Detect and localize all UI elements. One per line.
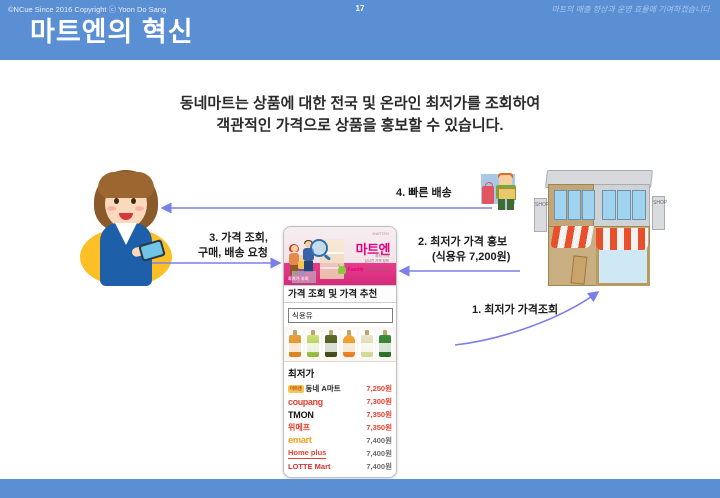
price-row[interactable]: emart 7,400원: [288, 434, 392, 447]
price-value: 7,300원: [366, 396, 392, 407]
store-name-tmon: TMON: [288, 410, 314, 420]
shop-sign-left: SHOP: [534, 198, 547, 232]
price-list: 마트엔 동네 A마트 7,250원 coupang 7,300원 TMON 7,…: [284, 382, 396, 477]
product-thumbnail[interactable]: [377, 330, 393, 357]
shop-window: [582, 190, 595, 220]
slide-canvas: 마트엔의 혁신 동네마트는 상품에 대한 전국 및 온라인 최저가를 조회하여 …: [0, 0, 720, 498]
customer-fringe: [98, 172, 154, 198]
shop-sign-left-text: SHOP: [535, 202, 546, 208]
shop-window: [602, 190, 616, 220]
store-name-coupang: coupang: [288, 397, 323, 407]
store-name-emart: emart: [288, 435, 311, 446]
customer-eye-left: [114, 198, 119, 204]
price-row[interactable]: coupang 7,300원: [288, 395, 392, 408]
step-1-line-1: 1. 최저가 가격조회: [472, 304, 558, 316]
step-3-line-1: 3. 가격 조회,: [209, 232, 268, 244]
banner-bottom-text: 최저가 조회: [288, 276, 309, 282]
price-row[interactable]: 마트엔 동네 A마트 7,250원: [288, 382, 392, 395]
subtitle-line-2: 객관적인 가격으로 상품을 홍보할 수 있습니다.: [0, 115, 720, 137]
shopping-bag-icon: [482, 186, 494, 204]
shop-building-illustration: SHOP SHOP: [528, 168, 673, 296]
banner-play-brand: Family: [348, 267, 364, 273]
banner-family-illustration: [286, 235, 344, 281]
price-value: 7,400원: [366, 435, 392, 446]
magnifier-icon: [310, 239, 328, 257]
shop-storefront-window: [596, 244, 650, 286]
lowest-price-heading: 최저가: [284, 362, 396, 382]
store-name-lottemart: LOTTE Mart: [288, 462, 331, 471]
shop-window: [632, 190, 646, 220]
shop-sign-right: SHOP: [652, 196, 665, 230]
product-thumbnail[interactable]: [341, 330, 357, 357]
product-thumbnail[interactable]: [305, 330, 321, 357]
app-section-title: 가격 조회 및 가격 추천: [284, 285, 396, 303]
product-thumbnail[interactable]: [287, 330, 303, 357]
subtitle-line-1: 동네마트는 상품에 대한 전국 및 온라인 최저가를 조회하여: [0, 93, 720, 115]
customer-blush-right: [135, 206, 144, 211]
step-4-line-1: 4. 빠른 배송: [396, 187, 452, 199]
step-2-label: 2. 최저가 가격 홍보 (식용유 7,200원): [418, 235, 510, 265]
step-2-line-1: 2. 최저가 가격 홍보: [418, 236, 507, 248]
shop-sign-right-text: SHOP: [653, 200, 664, 206]
step-2-line-2: (식용유 7,200원): [418, 250, 510, 265]
price-value: 7,400원: [366, 461, 392, 472]
product-thumbnail[interactable]: [323, 330, 339, 357]
search-button[interactable]: 검색: [396, 307, 397, 323]
subtitle: 동네마트는 상품에 대한 전국 및 온라인 최저가를 조회하여 객관적인 가격으…: [0, 93, 720, 137]
step-4-label: 4. 빠른 배송: [396, 186, 452, 201]
product-thumbnail[interactable]: [359, 330, 375, 357]
store-name-wemakeprice: 위메프: [288, 422, 310, 433]
footer-band: [0, 479, 720, 498]
app-search-row[interactable]: 검색: [284, 303, 396, 327]
page-title: 마트엔의 혁신: [30, 10, 194, 49]
shop-window: [617, 190, 631, 220]
customer-eye-right: [131, 198, 136, 204]
courier-legs: [498, 199, 514, 210]
price-row[interactable]: LOTTE Mart 7,400원: [288, 460, 392, 473]
customer-woman-illustration: [74, 168, 178, 286]
search-input[interactable]: [288, 308, 393, 323]
app-phone-mockup[interactable]: MARTEN 마트엔 최저 가격 실시간 가격 정보 Family 으로 확인하…: [283, 226, 397, 478]
shop-menu-board: [571, 255, 588, 284]
store-badge: 마트엔: [288, 385, 304, 393]
price-value: 7,250원: [366, 383, 392, 394]
price-row[interactable]: 위메프 7,350원: [288, 421, 392, 434]
product-thumbnail-row[interactable]: [284, 327, 396, 362]
customer-blush-left: [107, 206, 116, 211]
banner-play-text: 으로 확인하세요.: [366, 268, 391, 273]
price-value: 7,400원: [366, 448, 392, 459]
shop-window: [554, 190, 567, 220]
banner-play-row[interactable]: Family 으로 확인하세요.: [338, 266, 390, 274]
delivery-courier-icon: [481, 172, 527, 212]
step-3-label: 3. 가격 조회, 구매, 배송 요청: [180, 231, 268, 261]
banner-mini-top: MARTEN: [372, 232, 389, 236]
banner-subtext: 최저 가격 실시간 가격 정보: [365, 254, 390, 264]
price-value: 7,350원: [366, 409, 392, 420]
step-1-label: 1. 최저가 가격조회: [472, 303, 558, 318]
store-name-homeplus: Home plus: [288, 448, 326, 459]
shop-window: [568, 190, 581, 220]
app-banner: MARTEN 마트엔 최저 가격 실시간 가격 정보 Family 으로 확인하…: [284, 227, 396, 285]
price-row[interactable]: TMON 7,350원: [288, 408, 392, 421]
android-robot-icon: [338, 266, 346, 274]
banner-subtext-line-2: 실시간 가격 정보: [365, 259, 390, 264]
store-label: 동네 A마트: [306, 383, 341, 394]
price-row[interactable]: Home plus 7,400원: [288, 447, 392, 460]
shop-awning-front: [596, 228, 648, 250]
step-3-line-2: 구매, 배송 요청: [180, 246, 268, 261]
price-value: 7,350원: [366, 422, 392, 433]
shop-awning-left: [550, 226, 594, 248]
store-name-local-mart: 마트엔 동네 A마트: [288, 383, 341, 394]
footer-tagline: 마트의 매출 향상과 운영 효율에 기여하겠습니다.: [551, 4, 712, 15]
